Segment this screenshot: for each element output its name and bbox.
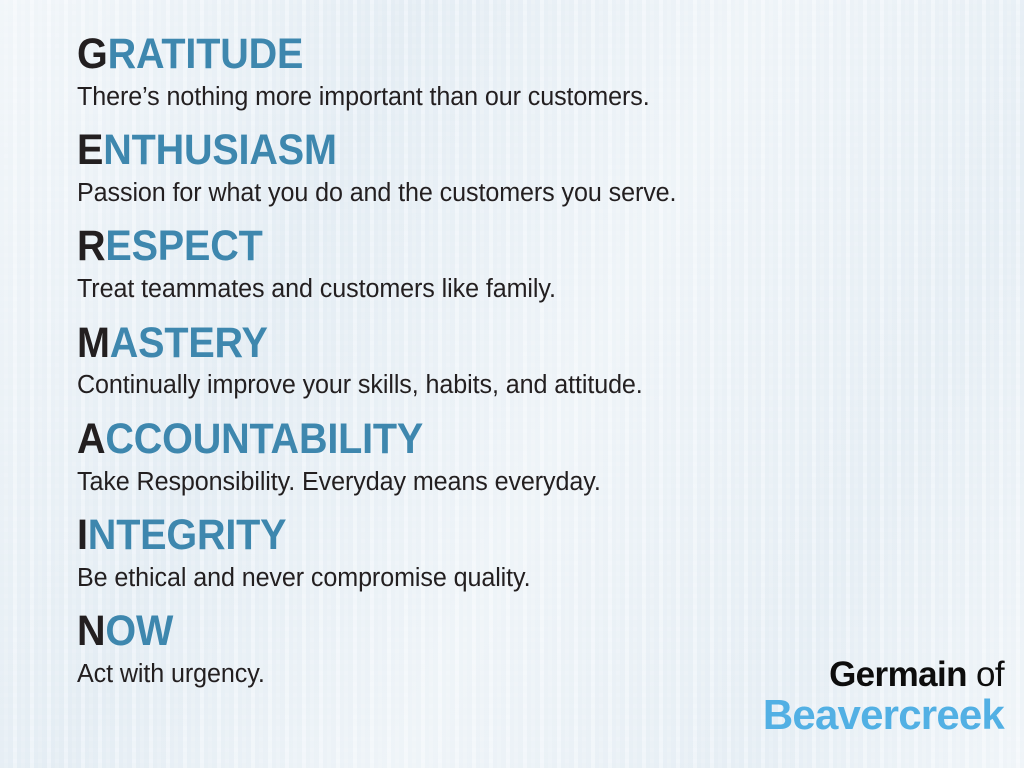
- value-block-enthusiasm: ENTHUSIASM Passion for what you do and t…: [77, 129, 1024, 208]
- value-word-remainder: NTHUSIASM: [103, 126, 337, 174]
- value-block-mastery: MASTERY Continually improve your skills,…: [77, 322, 1024, 401]
- value-heading: NOW: [77, 610, 948, 654]
- logo-line-brand: Germain of: [763, 657, 1004, 692]
- value-description: Take Responsibility. Everyday means ever…: [77, 468, 1010, 497]
- value-description: Passion for what you do and the customer…: [77, 179, 1010, 208]
- value-description: Be ethical and never compromise quality.: [77, 564, 1010, 593]
- logo-brand-name: Germain: [829, 655, 967, 694]
- value-heading: INTEGRITY: [77, 514, 948, 558]
- value-word-remainder: ESPECT: [105, 222, 262, 270]
- value-block-integrity: INTEGRITY Be ethical and never compromis…: [77, 514, 1024, 593]
- value-heading: RESPECT: [77, 225, 948, 269]
- value-word-remainder: CCOUNTABILITY: [105, 415, 423, 463]
- dealership-logo: Germain of Beavercreek: [763, 657, 1004, 736]
- value-description: There’s nothing more important than our …: [77, 83, 1010, 112]
- value-description: Continually improve your skills, habits,…: [77, 371, 1010, 400]
- values-list: GRATITUDE There’s nothing more important…: [0, 0, 1024, 689]
- value-initial-letter: M: [77, 319, 110, 367]
- value-heading: GRATITUDE: [77, 33, 948, 77]
- value-heading: ACCOUNTABILITY: [77, 418, 948, 462]
- value-initial-letter: N: [77, 607, 105, 655]
- value-initial-letter: R: [77, 222, 105, 270]
- logo-location: Beavercreek: [763, 694, 1004, 736]
- value-initial-letter: E: [77, 126, 103, 174]
- logo-connector: of: [967, 655, 1004, 694]
- value-block-gratitude: GRATITUDE There’s nothing more important…: [77, 33, 1024, 112]
- value-initial-letter: I: [77, 511, 88, 559]
- values-slide: GRATITUDE There’s nothing more important…: [0, 0, 1024, 768]
- value-heading: MASTERY: [77, 322, 948, 366]
- value-description: Treat teammates and customers like famil…: [77, 275, 1010, 304]
- value-block-accountability: ACCOUNTABILITY Take Responsibility. Ever…: [77, 418, 1024, 497]
- value-word-remainder: ASTERY: [110, 319, 268, 367]
- value-initial-letter: G: [77, 30, 108, 78]
- value-word-remainder: OW: [105, 607, 173, 655]
- value-initial-letter: A: [77, 415, 105, 463]
- value-word-remainder: NTEGRITY: [88, 511, 287, 559]
- value-word-remainder: RATITUDE: [108, 30, 304, 78]
- value-block-respect: RESPECT Treat teammates and customers li…: [77, 225, 1024, 304]
- value-heading: ENTHUSIASM: [77, 129, 948, 173]
